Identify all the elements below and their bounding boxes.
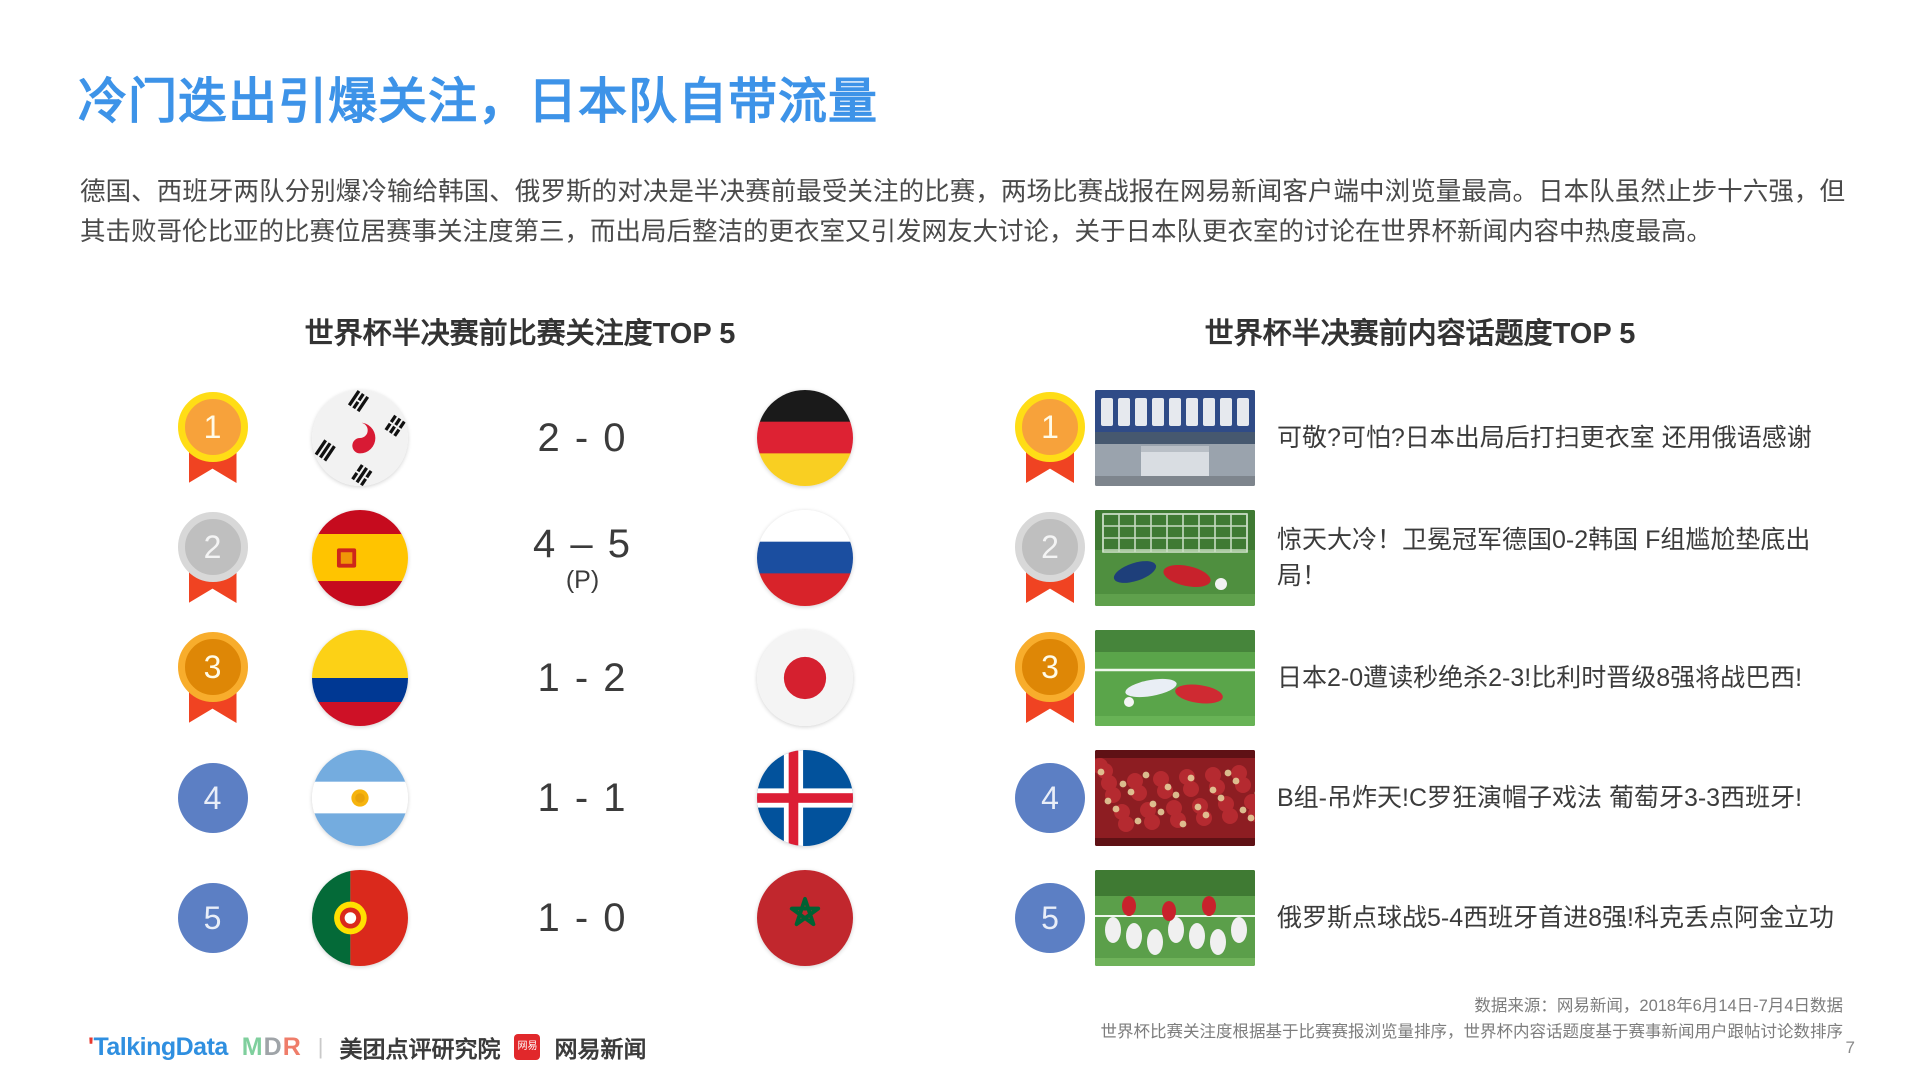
topic-rank-cell: 1 [1005, 392, 1095, 484]
match-score-note: (P) [445, 567, 720, 593]
home-flag-cell [275, 870, 445, 966]
netease-news-logo: 网易新闻 [554, 1030, 646, 1064]
netease-badge-icon: 网易 [514, 1034, 540, 1060]
flag-icon-argentina [312, 750, 408, 846]
mdr-logo: MDR [242, 1033, 302, 1062]
flag-icon-portugal [312, 870, 408, 966]
intro-paragraph: 德国、西班牙两队分别爆冷输给韩国、俄罗斯的对决是半决赛前最受关注的比赛，两场比赛… [80, 172, 1845, 252]
home-flag-cell [275, 510, 445, 606]
medal-icon-silver: 2 [1015, 512, 1085, 604]
medal-rank-label: 1 [1015, 392, 1085, 462]
topic-row[interactable]: 1 可敬?可怕?日本出局后打扫更衣室 还用俄语感谢 [1005, 378, 1845, 498]
medal-rank-label: 1 [178, 392, 248, 462]
match-rank-cell: 5 [150, 883, 275, 953]
thumbnail-goal-save-photo[interactable] [1095, 510, 1255, 606]
medal-rank-label: 2 [1015, 512, 1085, 582]
topic-headline[interactable]: 日本2-0遭读秒绝杀2-3!比利时晋级8强将战巴西! [1255, 660, 1845, 696]
thumbnail-players-on-pitch-photo[interactable] [1095, 630, 1255, 726]
rank-circle-4: 4 [178, 763, 248, 833]
home-flag-cell [275, 390, 445, 486]
topic-row[interactable]: 4 B组-吊炸天!C罗狂演帽子戏法 葡萄牙3-3西班牙! [1005, 738, 1845, 858]
rank-circle-5: 5 [1015, 883, 1085, 953]
topic-rank-cell: 4 [1005, 763, 1095, 833]
home-flag-cell [275, 750, 445, 846]
page-title: 冷门迭出引爆关注，日本队自带流量 [78, 62, 878, 133]
match-row: 2 4 – 5(P) [150, 498, 890, 618]
medal-icon-silver: 2 [178, 512, 248, 604]
away-flag-cell [720, 390, 890, 486]
thumbnail-penalty-celebration-photo[interactable] [1095, 870, 1255, 966]
flag-icon-colombia [312, 630, 408, 726]
topic-headline[interactable]: 惊天大冷！卫冕冠军德国0-2韩国 F组尴尬垫底出局！ [1255, 522, 1845, 594]
medal-rank-label: 3 [178, 632, 248, 702]
topic-rank-cell: 2 [1005, 512, 1095, 604]
away-flag-cell [720, 630, 890, 726]
topic-headline[interactable]: 俄罗斯点球战5-4西班牙首进8强!科克丢点阿金立功 [1255, 900, 1845, 936]
thumbnail-locker-room-photo[interactable] [1095, 390, 1255, 486]
match-rank-cell: 3 [150, 632, 275, 724]
match-score: 1 - 0 [445, 897, 720, 939]
topic-row[interactable]: 3 日本2-0遭读秒绝杀2-3!比利时晋级8强将战巴西! [1005, 618, 1845, 738]
match-row: 3 1 - 2 [150, 618, 890, 738]
away-flag-cell [720, 750, 890, 846]
match-ranking-list: 1 2 - 0 2 [150, 378, 890, 978]
away-flag-cell [720, 510, 890, 606]
away-flag-cell [720, 870, 890, 966]
medal-icon-bronze: 3 [178, 632, 248, 724]
topic-headline[interactable]: 可敬?可怕?日本出局后打扫更衣室 还用俄语感谢 [1255, 420, 1845, 456]
talkingdata-logo: 'TalkingData [88, 1033, 228, 1062]
medal-icon-gold: 1 [1015, 392, 1085, 484]
match-score: 1 - 2 [445, 657, 720, 699]
meituan-research-logo: 美团点评研究院 [339, 1030, 500, 1064]
topic-ranking-list: 1 可敬?可怕?日本出局后打扫更衣室 还用俄语感谢 2 惊天大冷！卫冕冠军德国0 [1005, 378, 1845, 978]
match-score: 1 - 1 [445, 777, 720, 819]
logo-bar: 'TalkingData MDR | 美团点评研究院 网易 网易新闻 [88, 1030, 646, 1064]
right-section-title: 世界杯半决赛前内容话题度TOP 5 [1005, 310, 1835, 352]
rank-circle-4: 4 [1015, 763, 1085, 833]
flag-icon-spain [312, 510, 408, 606]
rank-circle-5: 5 [178, 883, 248, 953]
match-rank-cell: 4 [150, 763, 275, 833]
match-score: 4 – 5(P) [445, 523, 720, 593]
flag-icon-south-korea [312, 390, 408, 486]
flag-icon-iceland [757, 750, 853, 846]
page-number: 7 [1846, 1038, 1855, 1058]
source-line-2: 世界杯比赛关注度根据基于比赛赛报浏览量排序，世界杯内容话题度基于赛事新闻用户跟帖… [1101, 1019, 1844, 1045]
match-row: 5 1 - 0 [150, 858, 890, 978]
topic-rank-cell: 5 [1005, 883, 1095, 953]
logo-divider: | [318, 1034, 324, 1060]
topic-headline[interactable]: B组-吊炸天!C罗狂演帽子戏法 葡萄牙3-3西班牙! [1255, 780, 1845, 816]
left-section-title: 世界杯半决赛前比赛关注度TOP 5 [150, 310, 890, 352]
home-flag-cell [275, 630, 445, 726]
match-rank-cell: 2 [150, 512, 275, 604]
topic-rank-cell: 3 [1005, 632, 1095, 724]
topic-row[interactable]: 5 俄罗斯点球战5-4西班牙首进8强!科克丢点阿金立功 [1005, 858, 1845, 978]
flag-icon-russia [757, 510, 853, 606]
match-score: 2 - 0 [445, 417, 720, 459]
medal-icon-bronze: 3 [1015, 632, 1085, 724]
medal-icon-gold: 1 [178, 392, 248, 484]
flag-icon-morocco [757, 870, 853, 966]
medal-rank-label: 3 [1015, 632, 1085, 702]
thumbnail-crowd-celebration-photo[interactable] [1095, 750, 1255, 846]
flag-icon-germany [757, 390, 853, 486]
topic-row[interactable]: 2 惊天大冷！卫冕冠军德国0-2韩国 F组尴尬垫底出局！ [1005, 498, 1845, 618]
source-line-1: 数据来源：网易新闻，2018年6月14日-7月4日数据 [1101, 993, 1844, 1019]
medal-rank-label: 2 [178, 512, 248, 582]
match-row: 1 2 - 0 [150, 378, 890, 498]
match-row: 4 1 - 1 [150, 738, 890, 858]
match-rank-cell: 1 [150, 392, 275, 484]
slide-root: 冷门迭出引爆关注，日本队自带流量 德国、西班牙两队分别爆冷输给韩国、俄罗斯的对决… [0, 0, 1921, 1080]
flag-icon-japan [757, 630, 853, 726]
source-note: 数据来源：网易新闻，2018年6月14日-7月4日数据 世界杯比赛关注度根据基于… [1101, 993, 1844, 1045]
